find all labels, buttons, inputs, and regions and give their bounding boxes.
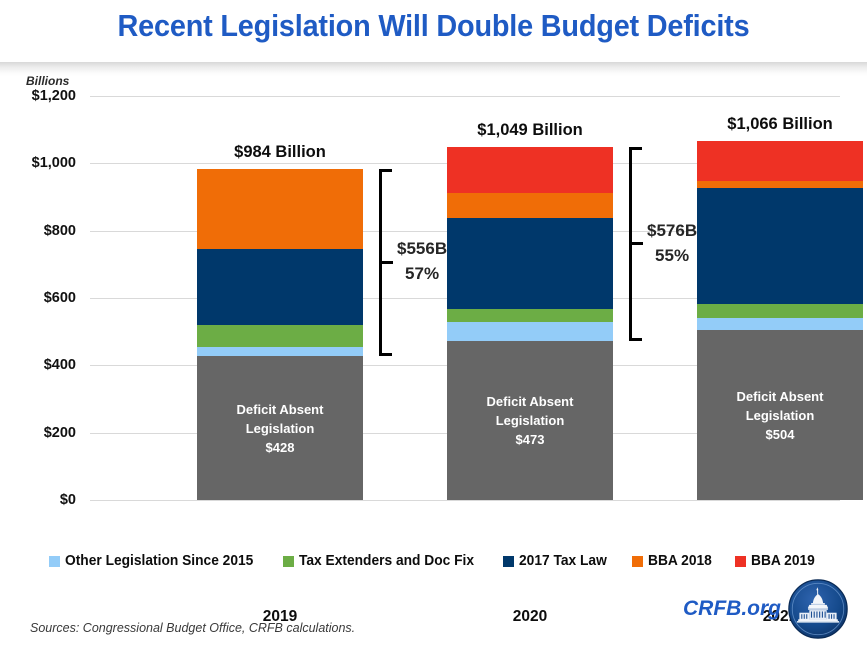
bar-inline-label-line: Legislation [197, 419, 363, 438]
bracket-cap-bottom [629, 338, 642, 341]
bar-segment-2021-2017-tax-law[interactable] [697, 188, 863, 304]
sources-note: Sources: Congressional Budget Office, CR… [30, 621, 355, 635]
annotation-percent: 55% [647, 243, 697, 268]
legend-swatch-icon [49, 556, 60, 567]
brand-block: CRFB.org [683, 578, 849, 640]
bar-inline-label-2019: Deficit AbsentLegislation$428 [197, 400, 363, 457]
bar-inline-label-line: Deficit Absent [447, 392, 613, 411]
bar-inline-label-line: Deficit Absent [197, 400, 363, 419]
legend-label: BBA 2019 [751, 553, 815, 569]
bar-inline-label-2020: Deficit AbsentLegislation$473 [447, 392, 613, 449]
bar-segment-2020-2017-tax-law[interactable] [447, 218, 613, 309]
bar-segment-2019-other-legislation-since-2015[interactable] [197, 347, 363, 356]
bar-total-label-2019: $984 Billion [160, 143, 400, 162]
bar-2019[interactable]: Deficit AbsentLegislation$428 [197, 169, 363, 500]
y-axis-tick-label: $400 [12, 357, 76, 373]
bar-segment-2021-tax-extenders-and-doc-fix[interactable] [697, 304, 863, 317]
legend-item-bba-2018[interactable]: BBA 2018 [632, 553, 715, 569]
title-band: Recent Legislation Will Double Budget De… [0, 0, 867, 62]
annotation-amount: $556B [397, 236, 447, 261]
bar-segment-2021-bba-2018[interactable] [697, 181, 863, 188]
bar-total-label-2021: $1,066 Billion [660, 115, 867, 134]
gridline [90, 500, 840, 501]
title-band-shadow [0, 62, 867, 76]
legend-item-tax-extenders-and-doc-fix[interactable]: Tax Extenders and Doc Fix [283, 553, 483, 569]
bar-total-label-2020: $1,049 Billion [410, 121, 650, 140]
plot-area: Deficit AbsentLegislation$428$984 Billio… [90, 96, 840, 500]
legend-swatch-icon [735, 556, 746, 567]
bar-segment-2020-tax-extenders-and-doc-fix[interactable] [447, 309, 613, 322]
gridline [90, 96, 840, 97]
bar-inline-label-line: $473 [447, 430, 613, 449]
legend-label: BBA 2018 [648, 553, 712, 569]
bracket-cap-top [629, 147, 642, 150]
bar-2021[interactable]: Deficit AbsentLegislation$504 [697, 141, 863, 500]
chart-page: Recent Legislation Will Double Budget De… [0, 0, 867, 649]
y-axis-tick-label: $600 [12, 290, 76, 306]
bar-inline-label-line: Legislation [447, 411, 613, 430]
page-title: Recent Legislation Will Double Budget De… [30, 8, 836, 44]
legend-item-other-legislation-since-2015[interactable]: Other Legislation Since 2015 [49, 553, 263, 569]
chart-legend: Other Legislation Since 2015Tax Extender… [0, 550, 867, 572]
bar-segment-2019-bba-2018[interactable] [197, 169, 363, 249]
annotation-amount: $576B [647, 218, 697, 243]
legend-swatch-icon [503, 556, 514, 567]
legend-label: 2017 Tax Law [519, 553, 607, 569]
x-axis-tick-label-2020: 2020 [410, 608, 650, 626]
capitol-dome-icon [787, 578, 849, 640]
y-axis-tick-label: $0 [12, 492, 76, 508]
bar-segment-2020-bba-2018[interactable] [447, 193, 613, 218]
annotation-percent: 57% [397, 261, 447, 286]
bar-segment-2019-2017-tax-law[interactable] [197, 249, 363, 325]
legend-item-bba-2019[interactable]: BBA 2019 [735, 553, 818, 569]
y-axis-tick-label: $800 [12, 223, 76, 239]
bracket-cap-top [379, 169, 392, 172]
y-axis-tick-label: $200 [12, 425, 76, 441]
bar-segment-2020-other-legislation-since-2015[interactable] [447, 322, 613, 341]
bar-inline-label-line: Legislation [697, 406, 863, 425]
y-axis: $1,200$1,000$800$600$400$200$0 [14, 96, 76, 500]
bracket-nub [382, 261, 393, 264]
bar-segment-2020-bba-2019[interactable] [447, 147, 613, 193]
y-axis-tick-label: $1,200 [12, 88, 76, 104]
bracket-annotation-2019: $556B57% [397, 236, 447, 286]
bar-segment-2021-bba-2019[interactable] [697, 141, 863, 181]
bar-inline-label-2021: Deficit AbsentLegislation$504 [697, 387, 863, 444]
brand-name[interactable]: CRFB.org [683, 597, 781, 621]
legend-swatch-icon [283, 556, 294, 567]
bar-inline-label-line: $504 [697, 425, 863, 444]
bracket-cap-bottom [379, 353, 392, 356]
bar-2020[interactable]: Deficit AbsentLegislation$473 [447, 147, 613, 500]
bracket-annotation-2020: $576B55% [647, 218, 697, 268]
legend-swatch-icon [632, 556, 643, 567]
bar-segment-2021-other-legislation-since-2015[interactable] [697, 318, 863, 331]
bar-inline-label-line: Deficit Absent [697, 387, 863, 406]
bracket-2020 [623, 147, 645, 341]
legend-label: Tax Extenders and Doc Fix [299, 553, 474, 569]
bar-segment-2019-deficit-absent-legislation[interactable]: Deficit AbsentLegislation$428 [197, 356, 363, 500]
legend-item-2017-tax-law[interactable]: 2017 Tax Law [503, 553, 611, 569]
bar-inline-label-line: $428 [197, 438, 363, 457]
bracket-2019 [373, 169, 395, 356]
bar-segment-2020-deficit-absent-legislation[interactable]: Deficit AbsentLegislation$473 [447, 341, 613, 500]
y-axis-units-label: Billions [26, 74, 69, 88]
bar-segment-2019-tax-extenders-and-doc-fix[interactable] [197, 325, 363, 347]
bracket-nub [632, 242, 643, 245]
legend-label: Other Legislation Since 2015 [65, 553, 253, 569]
y-axis-tick-label: $1,000 [12, 155, 76, 171]
bar-segment-2021-deficit-absent-legislation[interactable]: Deficit AbsentLegislation$504 [697, 330, 863, 500]
